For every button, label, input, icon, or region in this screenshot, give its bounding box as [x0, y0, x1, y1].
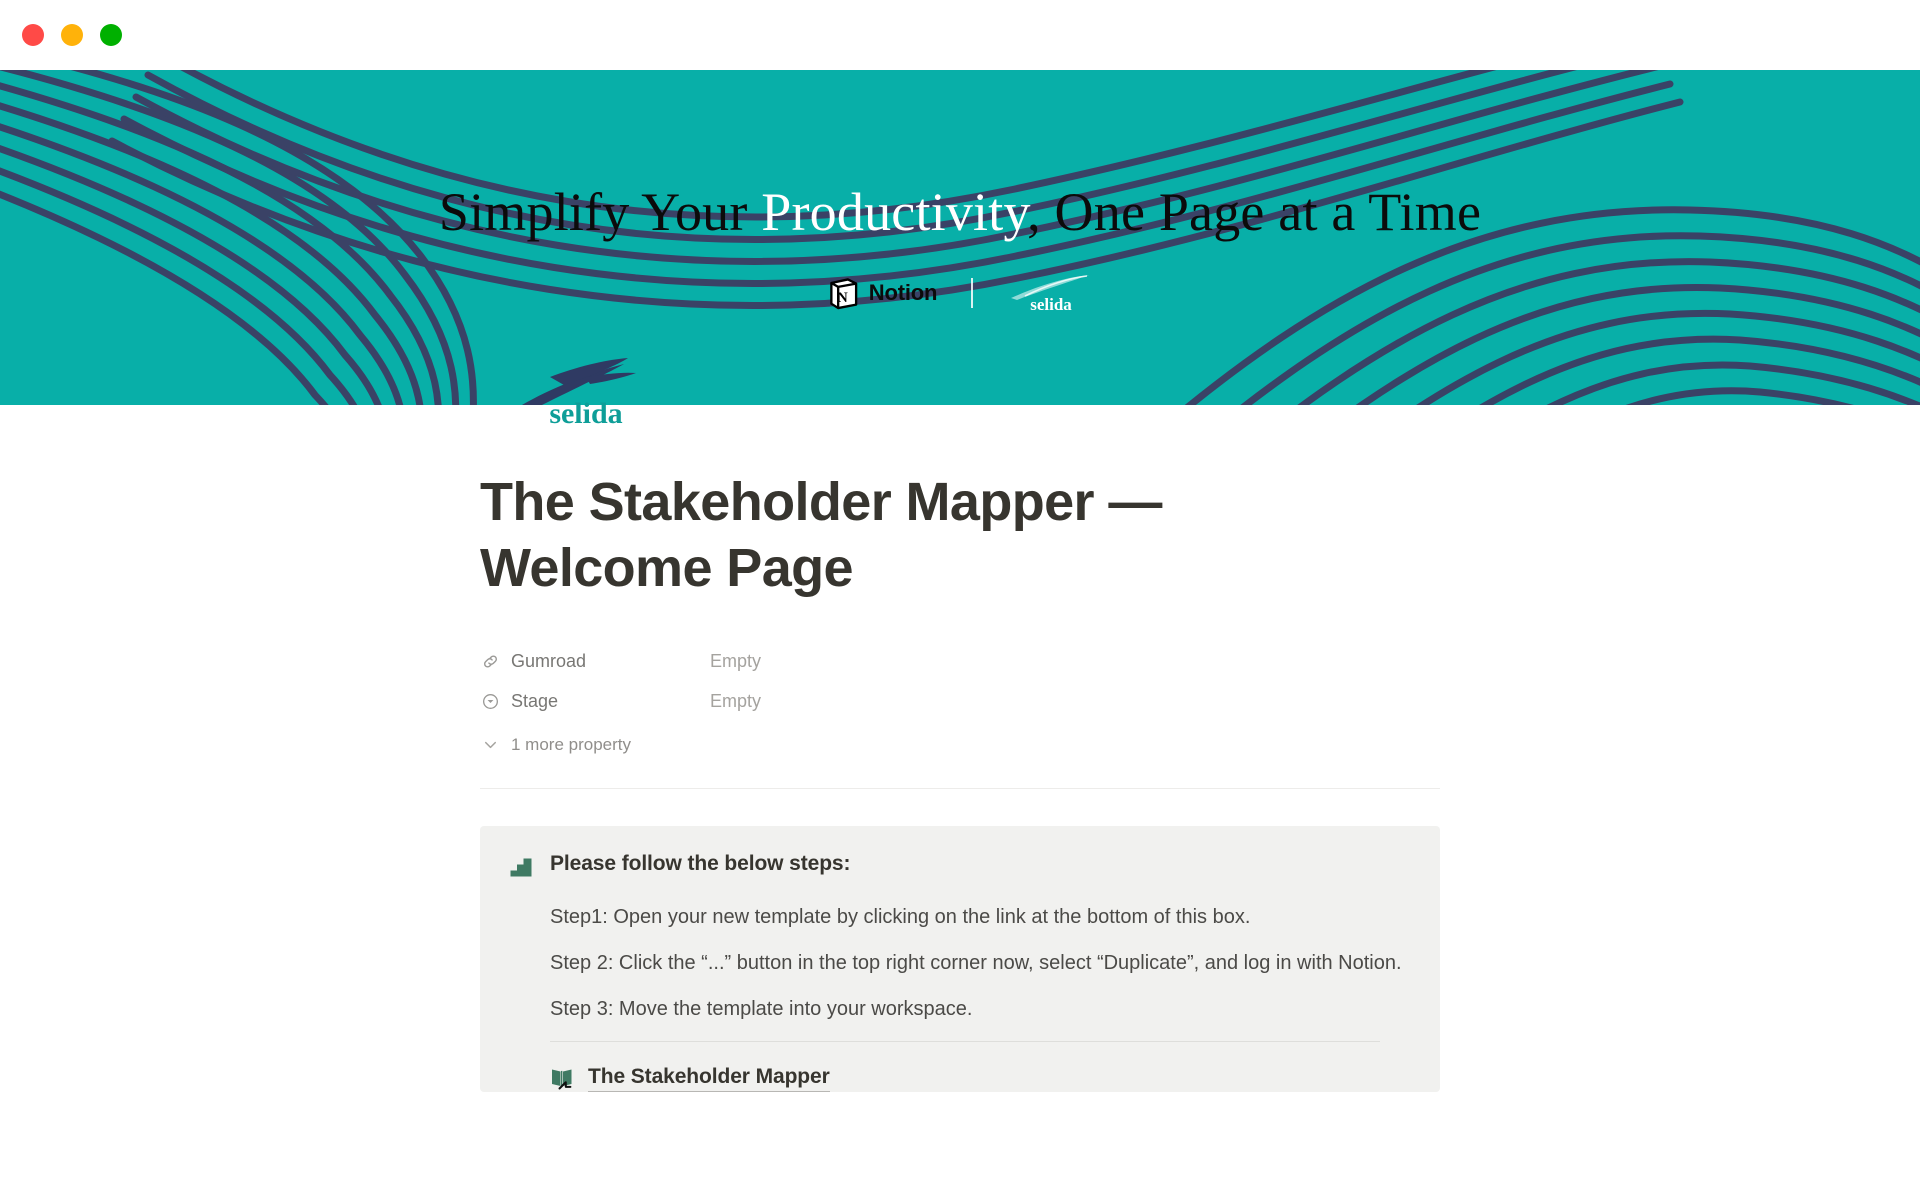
notion-logo: N Notion	[827, 277, 937, 310]
property-key-gumroad[interactable]: Gumroad	[480, 651, 710, 672]
notion-cube-icon: N	[827, 277, 860, 310]
headline-part-1: Simplify Your	[439, 182, 761, 242]
property-key-stage[interactable]: Stage	[480, 691, 710, 712]
select-icon	[480, 692, 500, 712]
selida-logo-small: selida	[1007, 272, 1093, 314]
logo-separator	[971, 278, 973, 308]
maximize-window-button[interactable]	[100, 24, 122, 46]
notion-page-body: The Stakeholder Mapper — Welcome Page Gu…	[0, 405, 1920, 1092]
banner-logo-row: N Notion selida	[827, 272, 1093, 314]
minimize-window-button[interactable]	[61, 24, 83, 46]
property-label-stage: Stage	[511, 691, 558, 712]
page-properties: Gumroad Empty Stage Empty	[480, 642, 1440, 765]
property-value-stage[interactable]: Empty	[710, 691, 761, 712]
open-book-icon	[550, 1066, 576, 1090]
link-icon	[480, 652, 500, 672]
template-link-label[interactable]: The Stakeholder Mapper	[588, 1065, 830, 1092]
stairs-icon	[510, 857, 532, 877]
property-value-gumroad[interactable]: Empty	[710, 651, 761, 672]
notion-wordmark: Notion	[869, 280, 937, 306]
page-title: The Stakeholder Mapper — Welcome Page	[480, 470, 1400, 602]
banner-headline: Simplify Your Productivity, One Page at …	[439, 185, 1481, 239]
content-divider	[480, 788, 1440, 789]
template-link-row[interactable]: The Stakeholder Mapper	[550, 1065, 1410, 1092]
svg-text:N: N	[837, 289, 848, 305]
callout-step-2: Step 2: Click the “...” button in the to…	[550, 949, 1410, 978]
callout-header: Please follow the below steps:	[510, 852, 1410, 877]
selida-small-wordmark: selida	[1030, 295, 1072, 314]
property-row-stage[interactable]: Stage Empty	[480, 682, 1440, 722]
selida-brand-logo: selida	[520, 355, 652, 427]
callout-step-3: Step 3: Move the template into your work…	[550, 995, 1410, 1024]
page-cover-banner: Simplify Your Productivity, One Page at …	[0, 70, 1920, 405]
headline-highlight: Productivity	[761, 182, 1027, 242]
headline-part-2: , One Page at a Time	[1027, 182, 1481, 242]
window-titlebar	[0, 0, 1920, 70]
selida-swoosh-icon: selida	[1007, 272, 1093, 314]
selida-brand-wordmark: selida	[549, 397, 622, 427]
callout-divider	[550, 1041, 1380, 1042]
more-properties-toggle[interactable]: 1 more property	[480, 725, 1440, 765]
steps-callout-block: Please follow the below steps: Step1: Op…	[480, 826, 1440, 1092]
selida-logo-graphic: selida	[520, 355, 652, 427]
property-label-gumroad: Gumroad	[511, 651, 586, 672]
callout-title: Please follow the below steps:	[550, 852, 850, 876]
callout-step-1: Step1: Open your new template by clickin…	[550, 903, 1410, 932]
close-window-button[interactable]	[22, 24, 44, 46]
callout-steps-list: Step1: Open your new template by clickin…	[510, 903, 1410, 1024]
chevron-down-icon	[480, 735, 500, 755]
property-row-gumroad[interactable]: Gumroad Empty	[480, 642, 1440, 682]
traffic-light-controls	[22, 24, 122, 46]
more-properties-label: 1 more property	[511, 735, 631, 755]
